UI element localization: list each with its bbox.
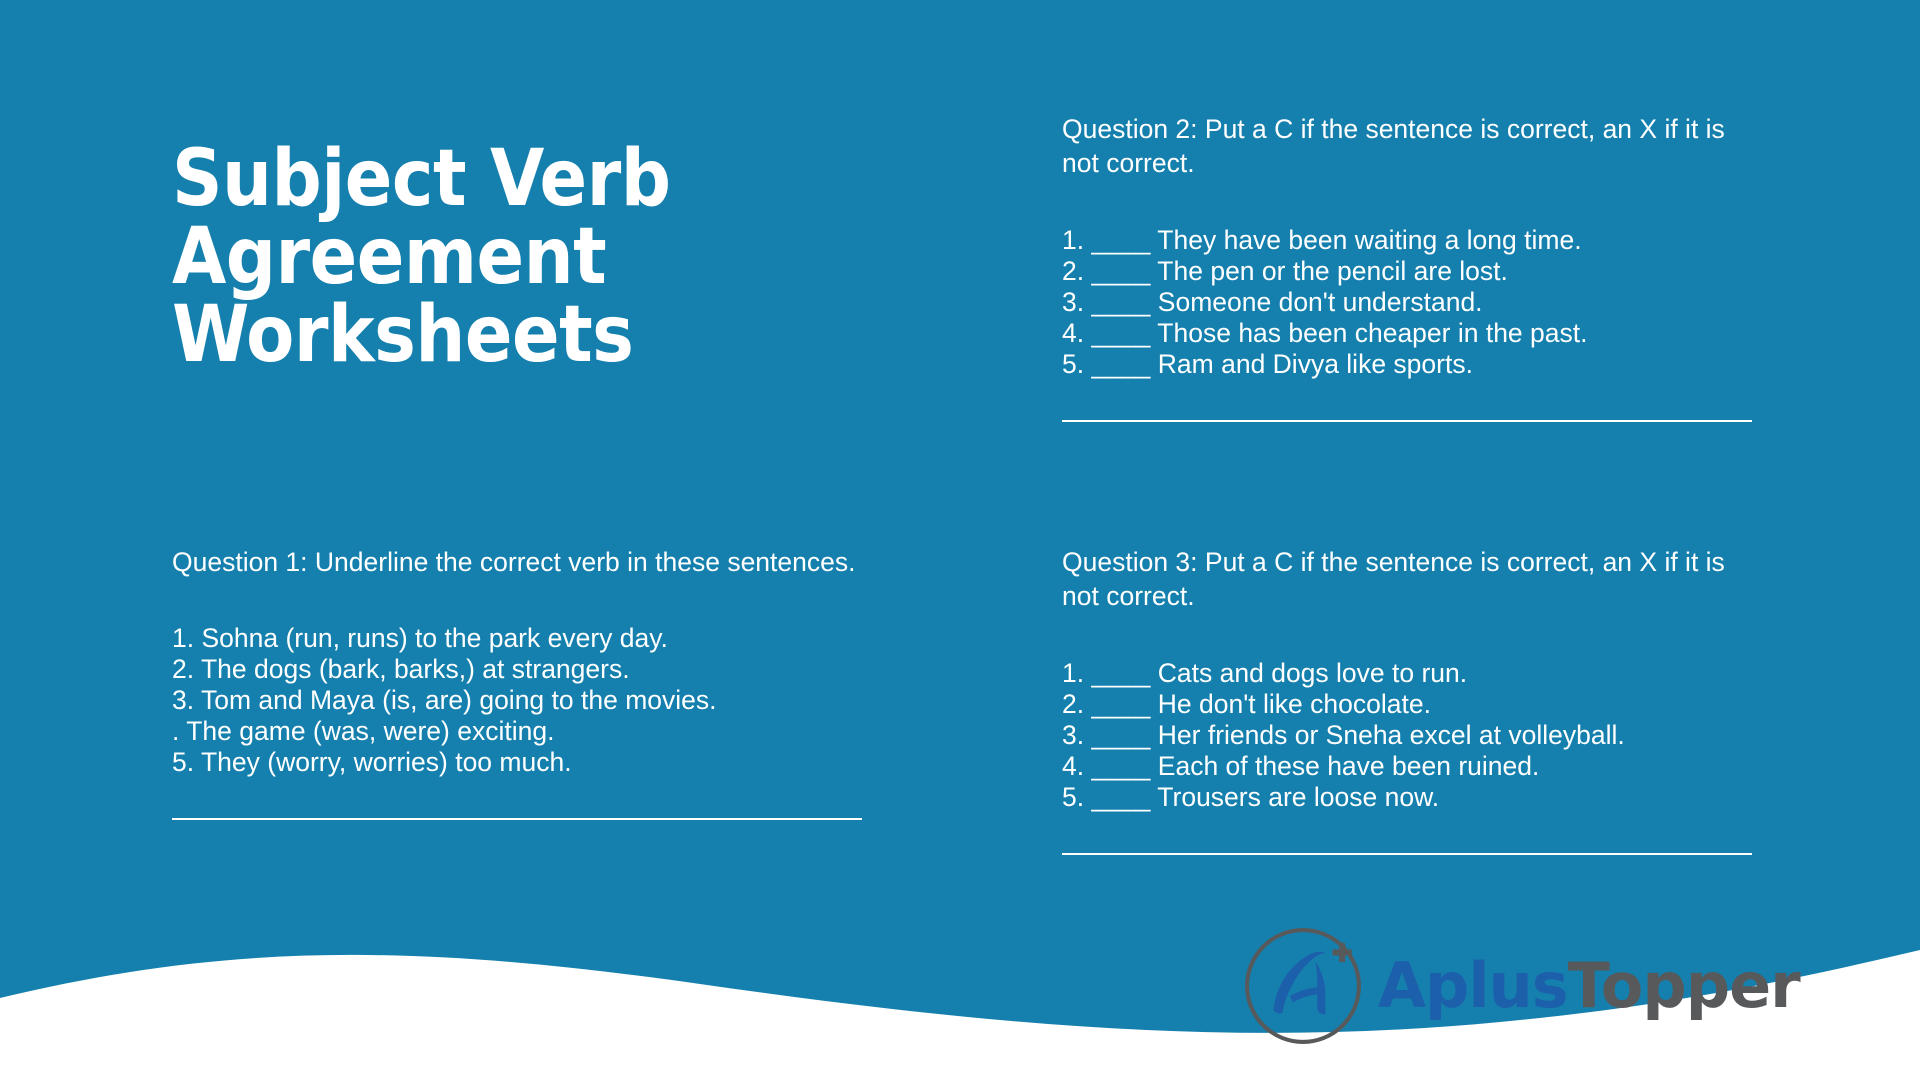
list-item: 2. ____ He don't like chocolate. <box>1062 689 1752 720</box>
list-item: 3. ____ Her friends or Sneha excel at vo… <box>1062 720 1752 751</box>
aplustopper-logo[interactable]: AplusTopper <box>1242 925 1800 1047</box>
list-item: 1. Sohna (run, runs) to the park every d… <box>172 623 862 654</box>
question-block-3: Question 3: Put a C if the sentence is c… <box>1062 545 1752 855</box>
worksheet-page: Subject Verb Agreement Worksheets Questi… <box>0 0 1920 1080</box>
question-3-prompt: Question 3: Put a C if the sentence is c… <box>1062 545 1752 614</box>
list-item: 3. ____ Someone don't understand. <box>1062 287 1752 318</box>
list-item: 5. ____ Ram and Divya like sports. <box>1062 349 1752 380</box>
page-title: Subject Verb Agreement Worksheets <box>172 140 732 374</box>
logo-word-topper: Topper <box>1568 949 1800 1022</box>
question-3-list: 1. ____ Cats and dogs love to run. 2. __… <box>1062 658 1752 813</box>
list-item: 2. ____ The pen or the pencil are lost. <box>1062 256 1752 287</box>
question-block-1: Question 1: Underline the correct verb i… <box>172 545 862 820</box>
left-column: Subject Verb Agreement Worksheets Questi… <box>172 0 872 1080</box>
right-column: Question 2: Put a C if the sentence is c… <box>1062 0 1762 1080</box>
question-2-prompt: Question 2: Put a C if the sentence is c… <box>1062 112 1752 181</box>
section-divider <box>1062 420 1752 422</box>
list-item: 3. Tom and Maya (is, are) going to the m… <box>172 685 862 716</box>
list-item: 1. ____ Cats and dogs love to run. <box>1062 658 1752 689</box>
page-title-line-1: Subject Verb <box>172 140 732 218</box>
list-item: 4. ____ Those has been cheaper in the pa… <box>1062 318 1752 349</box>
page-title-line-2: Agreement <box>172 218 732 296</box>
aplustopper-monogram-icon <box>1242 925 1364 1047</box>
section-divider <box>1062 853 1752 855</box>
list-item: 5. ____ Trousers are loose now. <box>1062 782 1752 813</box>
page-title-line-3: Worksheets <box>172 296 732 374</box>
list-item: 1. ____ They have been waiting a long ti… <box>1062 225 1752 256</box>
question-1-prompt: Question 1: Underline the correct verb i… <box>172 545 862 579</box>
list-item: . The game (was, were) exciting. <box>172 716 862 747</box>
question-block-2: Question 2: Put a C if the sentence is c… <box>1062 112 1752 422</box>
question-1-list: 1. Sohna (run, runs) to the park every d… <box>172 623 862 778</box>
question-2-list: 1. ____ They have been waiting a long ti… <box>1062 225 1752 380</box>
list-item: 5. They (worry, worries) too much. <box>172 747 862 778</box>
section-divider <box>172 818 862 820</box>
list-item: 2. The dogs (bark, barks,) at strangers. <box>172 654 862 685</box>
worksheet-content: Subject Verb Agreement Worksheets Questi… <box>0 0 1920 1080</box>
list-item: 4. ____ Each of these have been ruined. <box>1062 751 1752 782</box>
logo-wordmark: AplusTopper <box>1378 955 1800 1017</box>
logo-word-aplus: Aplus <box>1378 949 1568 1022</box>
